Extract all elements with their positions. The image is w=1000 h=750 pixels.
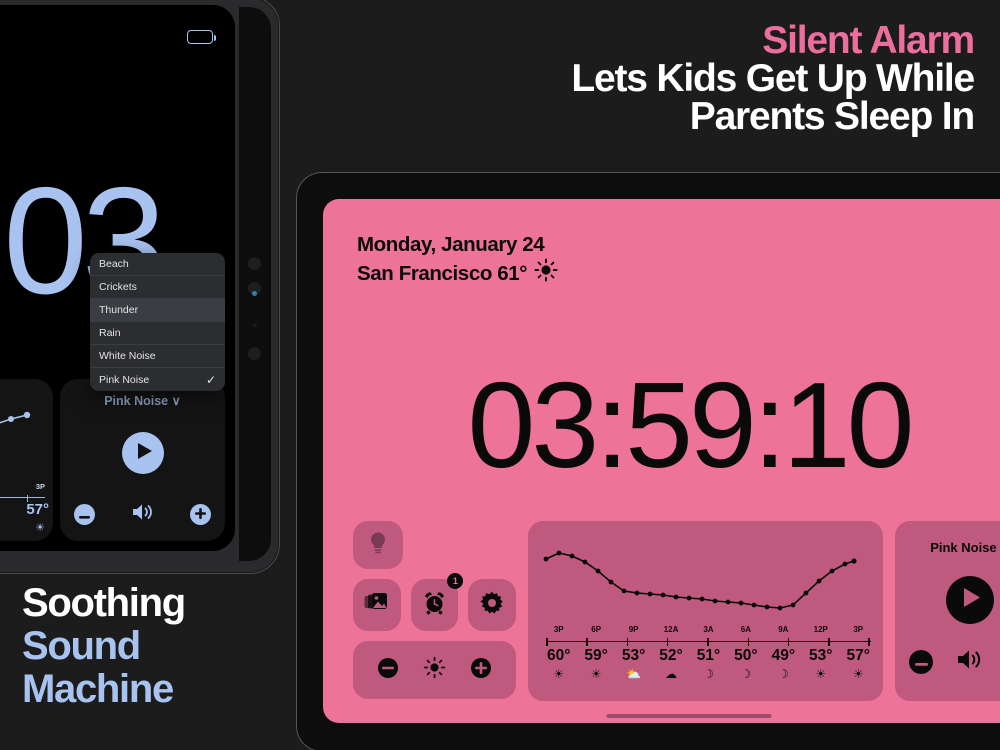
temperature-chart	[538, 531, 858, 629]
camera-led-icon	[252, 291, 257, 296]
header: Monday, January 24 San Francisco 61°	[357, 231, 558, 289]
menu-item-label: Beach	[99, 258, 129, 270]
minus-icon	[79, 506, 90, 524]
brightness-control	[353, 641, 516, 699]
weather-temp: 52°	[652, 647, 689, 665]
brightness-down-button[interactable]	[377, 657, 399, 684]
sun-icon: ☀	[840, 668, 877, 680]
play-button[interactable]	[122, 432, 164, 474]
menu-item-crickets[interactable]: Crickets	[90, 276, 225, 299]
sun-icon	[534, 258, 558, 289]
headline-line-2: Lets Kids Get Up While	[571, 60, 974, 98]
battery-icon	[187, 30, 213, 44]
left-weather-temps: 53° 57°	[0, 501, 49, 518]
menu-item-pink-noise[interactable]: Pink Noise ✓	[90, 368, 225, 391]
menu-item-thunder[interactable]: Thunder	[90, 299, 225, 322]
brightness-icon	[423, 656, 446, 684]
lightbulb-button[interactable]	[353, 521, 403, 569]
sun-icon: ☀	[540, 668, 577, 680]
gear-icon	[480, 591, 504, 620]
sun-icon: ☀	[577, 668, 614, 680]
photos-button[interactable]	[353, 579, 401, 631]
right-tablet-screen[interactable]: Monday, January 24 San Francisco 61°	[323, 199, 1000, 723]
volume-up-button[interactable]	[190, 504, 211, 525]
left-sound-title-label: Pink Noise	[104, 394, 168, 408]
home-indicator[interactable]	[607, 714, 772, 718]
alarm-countdown-clock: 03:59:10	[323, 364, 1000, 486]
play-icon	[134, 443, 152, 464]
weather-temp: 57°	[840, 647, 877, 665]
left-tablet-screen[interactable]: :03 12P 3P 53° 57°	[0, 5, 235, 551]
dock-left-column: 1	[353, 521, 516, 701]
moon-icon: ☽	[765, 668, 802, 680]
caption-line-2: Sound	[22, 625, 185, 668]
weather-temp: 53°	[802, 647, 839, 665]
volume-down-button[interactable]	[909, 650, 933, 674]
left-weather-axis	[0, 497, 45, 498]
sun-icon: ☀	[35, 521, 45, 534]
weather-axis	[546, 641, 871, 642]
left-tablet-device: :03 12P 3P 53° 57°	[0, 0, 280, 574]
brightness-up-button[interactable]	[470, 657, 492, 684]
left-sound-selector[interactable]: Pink Noise ∨	[60, 393, 225, 408]
header-date: Monday, January 24	[357, 231, 558, 258]
sound-panel: Pink Noise ∨	[895, 521, 1000, 701]
menu-item-beach[interactable]: Beach	[90, 253, 225, 276]
weather-time: 12P	[802, 625, 839, 634]
volume-icon[interactable]	[957, 649, 983, 675]
headline-line-1: Silent Alarm	[571, 22, 974, 60]
headline-line-3: Parents Sleep In	[571, 98, 974, 136]
sun-icon: ☀	[802, 668, 839, 680]
alarm-button[interactable]: 1	[411, 579, 459, 631]
left-temperature-chart	[0, 389, 53, 469]
weather-time: 12A	[652, 625, 689, 634]
partly-cloudy-icon: ⛅	[615, 668, 652, 680]
caption-line-1: Soothing	[22, 582, 185, 625]
camera-icon	[248, 257, 261, 270]
menu-item-label: Crickets	[99, 281, 137, 293]
weather-time-labels: 3P 6P 9P 12A 3A 6A 9A 12P 3P	[540, 625, 877, 634]
moon-icon: ☽	[690, 668, 727, 680]
header-location-label: San Francisco 61°	[357, 260, 527, 287]
lightbulb-icon	[368, 531, 388, 560]
weather-time: 3P	[540, 625, 577, 634]
left-weather-widget[interactable]: 12P 3P 53° 57° ☀ ☀	[0, 379, 53, 541]
weather-temp: 59°	[577, 647, 614, 665]
left-weather-temp-1: 57°	[26, 501, 49, 518]
control-dock: 1	[353, 521, 1000, 701]
weather-widget[interactable]: 3P 6P 9P 12A 3A 6A 9A 12P 3P	[528, 521, 883, 701]
volume-icon[interactable]	[132, 503, 154, 526]
cloud-icon: ☁	[652, 668, 689, 680]
minus-icon	[915, 653, 928, 671]
check-icon: ✓	[206, 373, 216, 387]
weather-time: 3A	[690, 625, 727, 634]
alarm-badge: 1	[447, 573, 463, 589]
weather-time: 9A	[765, 625, 802, 634]
weather-condition-icons: ☀ ☀ ⛅ ☁ ☽ ☽ ☽ ☀ ☀	[540, 668, 877, 680]
weather-temp: 50°	[727, 647, 764, 665]
plus-icon	[195, 506, 206, 524]
alarm-clock-icon	[422, 590, 447, 620]
sensor-icon	[253, 323, 257, 327]
left-weather-time-1: 3P	[36, 482, 45, 491]
menu-item-rain[interactable]: Rain	[90, 322, 225, 345]
play-icon	[960, 588, 980, 612]
menu-item-label: Thunder	[99, 304, 138, 316]
menu-item-label: Rain	[99, 327, 121, 339]
sound-title-label: Pink Noise	[930, 540, 996, 555]
menu-item-label: White Noise	[99, 350, 156, 362]
weather-temp: 53°	[615, 647, 652, 665]
sound-selection-menu[interactable]: Beach Crickets Thunder Rain White Noise …	[90, 253, 225, 391]
moon-icon: ☽	[727, 668, 764, 680]
weather-time: 6A	[727, 625, 764, 634]
right-tablet-device: Monday, January 24 San Francisco 61°	[296, 172, 1000, 750]
play-button[interactable]	[946, 576, 994, 624]
menu-item-white-noise[interactable]: White Noise	[90, 345, 225, 368]
volume-down-button[interactable]	[74, 504, 95, 525]
weather-time: 3P	[840, 625, 877, 634]
settings-button[interactable]	[468, 579, 516, 631]
header-location: San Francisco 61°	[357, 258, 558, 289]
left-weather-times: 12P 3P	[0, 482, 45, 491]
left-volume-controls	[74, 503, 211, 526]
caption-line-3: Machine	[22, 668, 185, 711]
sound-selector[interactable]: Pink Noise ∨	[895, 540, 1000, 556]
weather-temp-labels: 60° 59° 53° 52° 51° 50° 49° 53° 57°	[540, 647, 877, 665]
weather-temp: 51°	[690, 647, 727, 665]
left-tablet-bezel	[239, 7, 271, 561]
camera-icon	[248, 347, 261, 360]
photos-icon	[364, 592, 389, 618]
chevron-down-icon: ∨	[172, 394, 181, 408]
volume-controls	[909, 649, 1000, 675]
weather-time: 9P	[615, 625, 652, 634]
left-sound-panel: Pink Noise ∨	[60, 379, 225, 541]
headline: Silent Alarm Lets Kids Get Up While Pare…	[571, 22, 974, 135]
weather-time: 6P	[577, 625, 614, 634]
weather-temp: 60°	[540, 647, 577, 665]
left-weather-icons: ☀ ☀	[0, 521, 45, 534]
menu-item-label: Pink Noise	[99, 374, 149, 386]
weather-temp: 49°	[765, 647, 802, 665]
dock-icon-row: 1	[353, 579, 516, 631]
caption-soothing-sound-machine: Soothing Sound Machine	[22, 582, 185, 712]
